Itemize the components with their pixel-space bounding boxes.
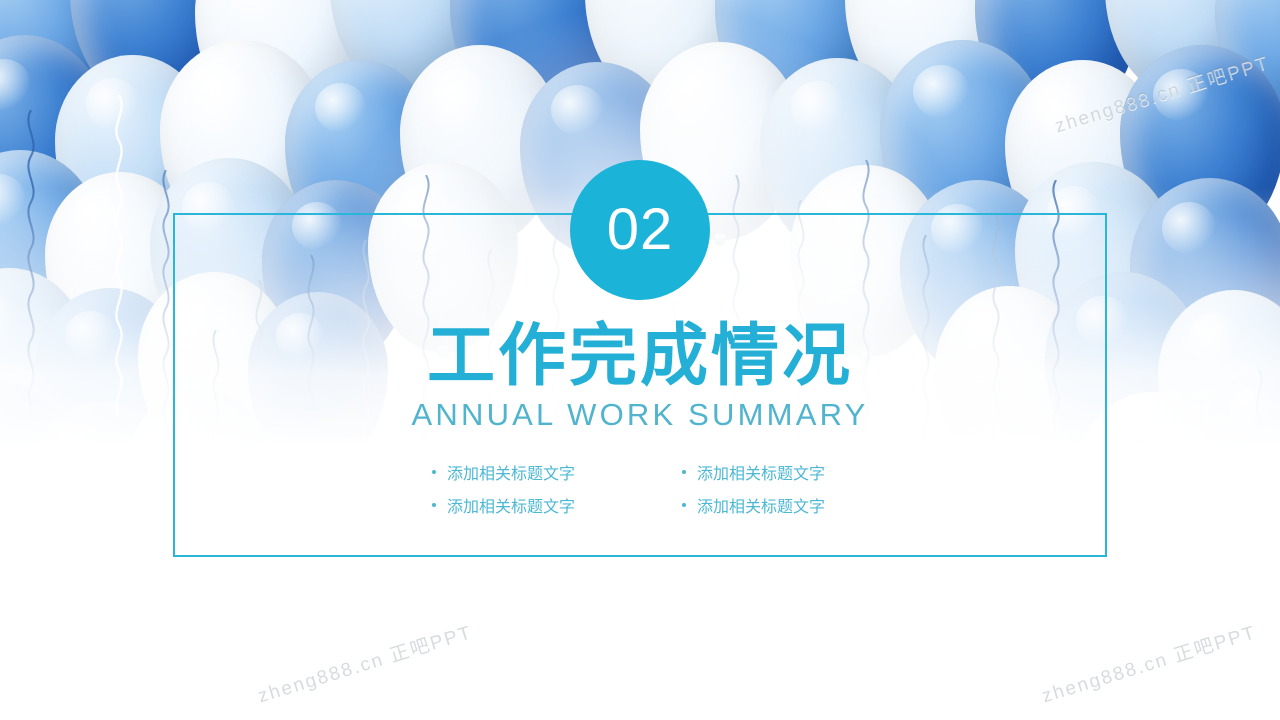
slide-subtitle-english: ANNUAL WORK SUMMARY xyxy=(0,397,1280,433)
ribbon-streamer xyxy=(1128,430,1150,700)
ribbon-streamer xyxy=(100,520,122,720)
slide-title-chinese: 工作完成情况 xyxy=(0,322,1280,391)
section-number-text: 02 xyxy=(607,201,674,259)
bullet-dot-icon xyxy=(682,503,686,507)
bullet-dot-icon xyxy=(432,503,436,507)
bullet-list: 添加相关标题文字 添加相关标题文字 添加相关标题文字 添加相关标题文字 xyxy=(432,460,892,517)
ribbon-streamer xyxy=(1192,400,1214,700)
bullet-dot-icon xyxy=(432,470,436,474)
ribbon-streamer xyxy=(158,500,180,720)
ribbon-streamer xyxy=(250,470,272,720)
title-group: 工作完成情况 ANNUAL WORK SUMMARY xyxy=(0,322,1280,433)
list-item: 添加相关标题文字 xyxy=(432,493,682,517)
list-item-label: 添加相关标题文字 xyxy=(447,493,575,517)
ribbon-streamer xyxy=(40,430,62,720)
bullet-dot-icon xyxy=(682,470,686,474)
list-item: 添加相关标题文字 xyxy=(682,493,892,517)
list-item: 添加相关标题文字 xyxy=(682,460,892,484)
presentation-slide: 02 工作完成情况 ANNUAL WORK SUMMARY 添加相关标题文字 添… xyxy=(0,0,1280,720)
list-item-label: 添加相关标题文字 xyxy=(697,460,825,484)
list-item: 添加相关标题文字 xyxy=(432,460,682,484)
section-number-badge: 02 xyxy=(570,160,710,300)
list-item-label: 添加相关标题文字 xyxy=(447,460,575,484)
list-item-label: 添加相关标题文字 xyxy=(697,493,825,517)
